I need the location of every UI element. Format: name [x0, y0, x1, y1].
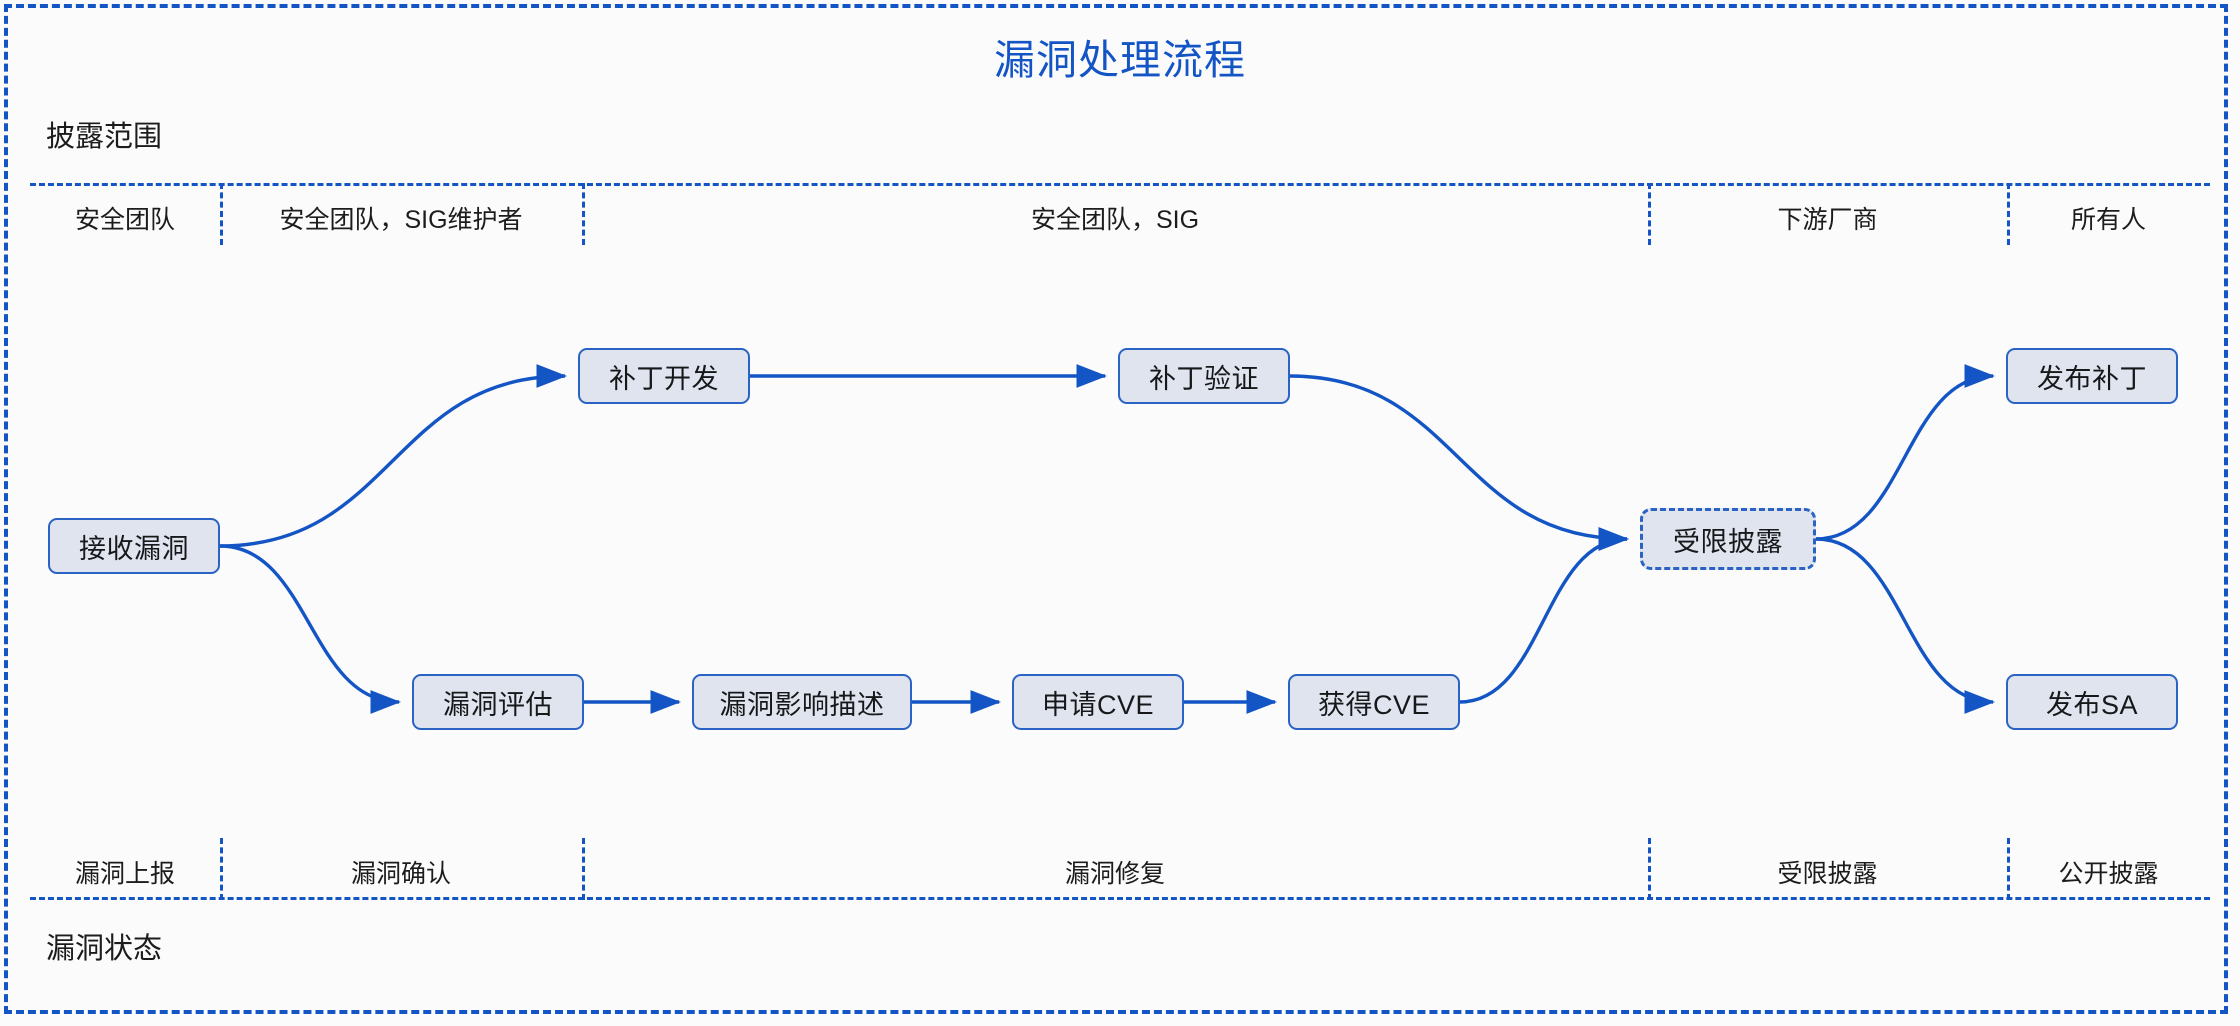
node-release-sa[interactable]: 发布SA [2006, 674, 2178, 730]
node-obtain-cve[interactable]: 获得CVE [1288, 674, 1460, 730]
diagram-canvas: 漏洞处理流程 披露范围 漏洞状态 安全团队安全团队，SIG维护者安全团队，SIG… [0, 0, 2240, 1026]
node-patch-verify[interactable]: 补丁验证 [1118, 348, 1290, 404]
vulnerability-status-divider-line [30, 897, 2210, 900]
edge-obtain-cve-to-limited-disc [1460, 539, 1627, 702]
edge-patch-verify-to-limited-disc [1290, 376, 1627, 539]
disclosure-scope-divider-line [30, 183, 2210, 186]
edge-limited-disc-to-release-sa [1816, 539, 1993, 702]
vulnerability-status-heading: 漏洞状态 [46, 925, 162, 967]
vulnerability-status-label-4: 受限披露 [1648, 854, 2007, 890]
page-title: 漏洞处理流程 [0, 26, 2240, 86]
disclosure-scope-label-5: 所有人 [2007, 200, 2210, 236]
edge-limited-disc-to-release-patch [1816, 376, 1993, 539]
edge-receive-to-patch-dev [220, 376, 565, 546]
vulnerability-status-label-3: 漏洞修复 [582, 854, 1648, 890]
disclosure-scope-label-3: 安全团队，SIG [582, 200, 1648, 236]
vulnerability-status-label-5: 公开披露 [2007, 854, 2210, 890]
disclosure-scope-label-4: 下游厂商 [1648, 200, 2007, 236]
edge-receive-to-vuln-assess [220, 546, 399, 702]
vulnerability-status-label-1: 漏洞上报 [30, 854, 220, 890]
node-patch-dev[interactable]: 补丁开发 [578, 348, 750, 404]
disclosure-scope-heading: 披露范围 [46, 113, 162, 155]
node-impact-desc[interactable]: 漏洞影响描述 [692, 674, 912, 730]
disclosure-scope-label-2: 安全团队，SIG维护者 [220, 200, 582, 236]
vulnerability-status-label-2: 漏洞确认 [220, 854, 582, 890]
disclosure-scope-label-1: 安全团队 [30, 200, 220, 236]
node-receive[interactable]: 接收漏洞 [48, 518, 220, 574]
node-release-patch[interactable]: 发布补丁 [2006, 348, 2178, 404]
node-vuln-assess[interactable]: 漏洞评估 [412, 674, 584, 730]
node-limited-disc[interactable]: 受限披露 [1640, 508, 1816, 570]
node-apply-cve[interactable]: 申请CVE [1012, 674, 1184, 730]
